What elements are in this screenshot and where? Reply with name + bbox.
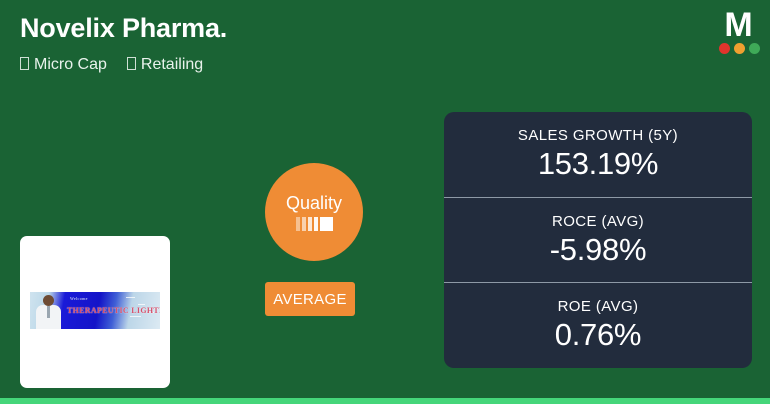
metric-value: 153.19% <box>538 146 658 182</box>
tag-sector[interactable]: Retailing <box>127 56 203 74</box>
doctor-head <box>43 295 54 306</box>
gauge-segment <box>320 217 333 231</box>
logo-dots <box>719 43 760 54</box>
company-banner-image: Welcome THERAPEUTIC LIGHTING <box>30 292 160 329</box>
key-metrics-panel: Sales Growth (5Y) 153.19% ROCE (Avg) -5.… <box>444 112 752 368</box>
doctor-tie <box>47 306 50 318</box>
quality-rating-badge[interactable]: AVERAGE <box>265 282 355 316</box>
red-dot <box>719 43 730 54</box>
gauge-segment <box>308 217 312 231</box>
metric-label: ROE (Avg) <box>558 298 639 315</box>
tag-market-cap-label: Micro Cap <box>34 56 107 74</box>
gauge-segment <box>296 217 300 231</box>
banner-brand-text: THERAPEUTIC LIGHTING <box>67 306 160 315</box>
green-dot <box>749 43 760 54</box>
quality-gauge-icon <box>296 217 333 231</box>
sparkle-decoration <box>126 297 135 298</box>
gauge-segment <box>314 217 318 231</box>
tag-row: Micro Cap Retailing <box>20 56 203 74</box>
bottom-accent-bar <box>0 398 770 404</box>
metric-label: ROCE (Avg) <box>552 213 644 230</box>
tag-market-cap[interactable]: Micro Cap <box>20 56 107 74</box>
quality-block: Quality AVERAGE <box>265 163 363 316</box>
tag-sector-label: Retailing <box>141 56 203 74</box>
sparkle-decoration <box>130 316 141 317</box>
quality-label: Quality <box>286 193 342 213</box>
tag-icon <box>20 57 29 70</box>
metric-roe: ROE (Avg) 0.76% <box>444 282 752 368</box>
gauge-segment <box>302 217 306 231</box>
metric-sales-growth: Sales Growth (5Y) 153.19% <box>444 112 752 197</box>
metric-value: 0.76% <box>555 317 641 353</box>
quality-score-circle[interactable]: Quality <box>265 163 363 261</box>
metric-value: -5.98% <box>550 232 646 268</box>
banner-welcome-text: Welcome <box>70 296 88 301</box>
logo-letter-m: M <box>714 10 762 42</box>
metric-roce: ROCE (Avg) -5.98% <box>444 197 752 283</box>
sector-icon <box>127 57 136 70</box>
stock-summary-card: Novelix Pharma. Micro Cap Retailing M Qu… <box>0 0 770 404</box>
header: Novelix Pharma. Micro Cap Retailing M <box>0 0 770 96</box>
sparkle-decoration <box>138 304 145 305</box>
amber-dot <box>734 43 745 54</box>
brand-logo[interactable]: M <box>714 10 762 58</box>
company-thumbnail-card[interactable]: Welcome THERAPEUTIC LIGHTING <box>20 236 170 388</box>
page-title: Novelix Pharma. <box>20 13 227 44</box>
metric-label: Sales Growth (5Y) <box>518 127 678 144</box>
